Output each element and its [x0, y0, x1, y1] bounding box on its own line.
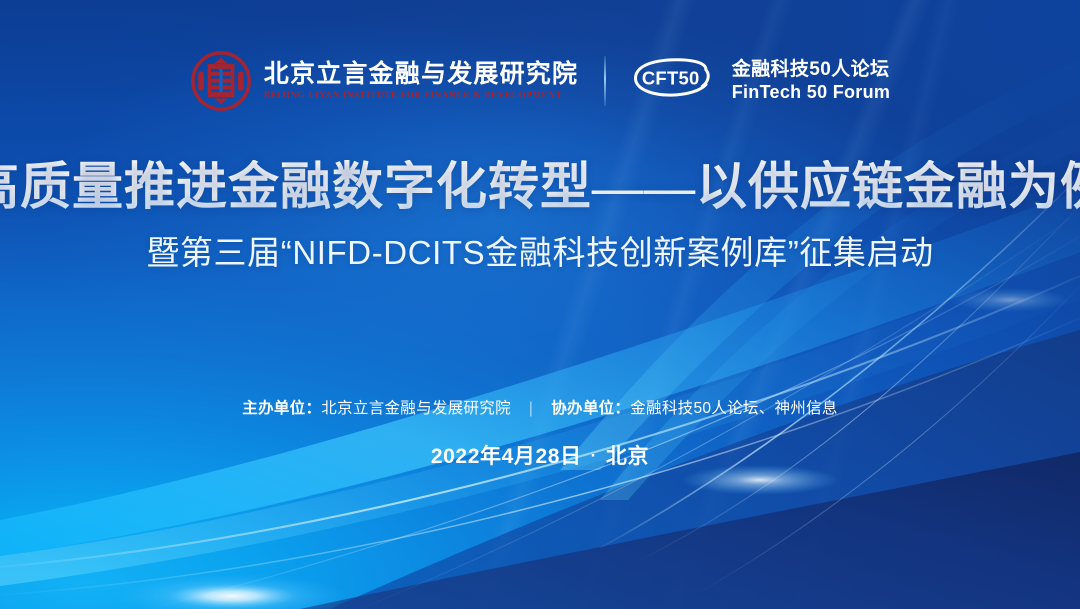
event-date: 2022年4月28日: [431, 445, 582, 468]
coorganizer-value: 金融科技50人论坛、神州信息: [630, 400, 837, 417]
institute-seal-icon: [190, 50, 252, 112]
svg-text:CFT50: CFT50: [642, 68, 700, 89]
credits-separator: |: [529, 398, 533, 420]
main-title: 高质量推进金融数字化转型——以供应链金融为例: [0, 160, 1080, 217]
credits-block: 主办单位：北京立言金融与发展研究院|协办单位：金融科技50人论坛、神州信息 20…: [0, 398, 1080, 470]
coorganizer-label: 协办单位：: [551, 400, 630, 417]
host-value: 北京立言金融与发展研究院: [321, 400, 511, 417]
cft50-ellipse-icon: CFT50: [632, 58, 720, 104]
organizer-line: 主办单位：北京立言金融与发展研究院|协办单位：金融科技50人论坛、神州信息: [0, 398, 1080, 420]
logo-divider: [604, 56, 606, 106]
institute-name-cn: 北京立言金融与发展研究院: [264, 62, 578, 88]
host-label: 主办单位：: [242, 400, 321, 417]
sub-title: 暨第三届“NIFD-DCITS金融科技创新案例库”征集启动: [0, 233, 1080, 273]
institute-logo: 北京立言金融与发展研究院 BEIJING LIYAN INSTITUTE FOR…: [190, 50, 578, 112]
forum-name-en: FinTech 50 Forum: [732, 82, 891, 103]
forum-logo: CFT50 金融科技50人论坛 FinTech 50 Forum: [632, 58, 891, 104]
institute-name-en: BEIJING LIYAN INSTITUTE FOR FINANCE & DE…: [264, 90, 578, 100]
forum-name-cn: 金融科技50人论坛: [732, 59, 891, 81]
title-block: 高质量推进金融数字化转型——以供应链金融为例 暨第三届“NIFD-DCITS金融…: [0, 160, 1080, 273]
banner-content: 北京立言金融与发展研究院 BEIJING LIYAN INSTITUTE FOR…: [0, 0, 1080, 609]
event-location: 北京: [606, 445, 649, 468]
date-separator-dot: ·: [591, 446, 597, 465]
institute-name-block: 北京立言金融与发展研究院 BEIJING LIYAN INSTITUTE FOR…: [264, 62, 578, 100]
forum-name-block: 金融科技50人论坛 FinTech 50 Forum: [732, 59, 891, 104]
date-location-line: 2022年4月28日·北京: [0, 440, 1080, 470]
logo-row: 北京立言金融与发展研究院 BEIJING LIYAN INSTITUTE FOR…: [190, 44, 890, 118]
conference-banner: 北京立言金融与发展研究院 BEIJING LIYAN INSTITUTE FOR…: [0, 0, 1080, 609]
